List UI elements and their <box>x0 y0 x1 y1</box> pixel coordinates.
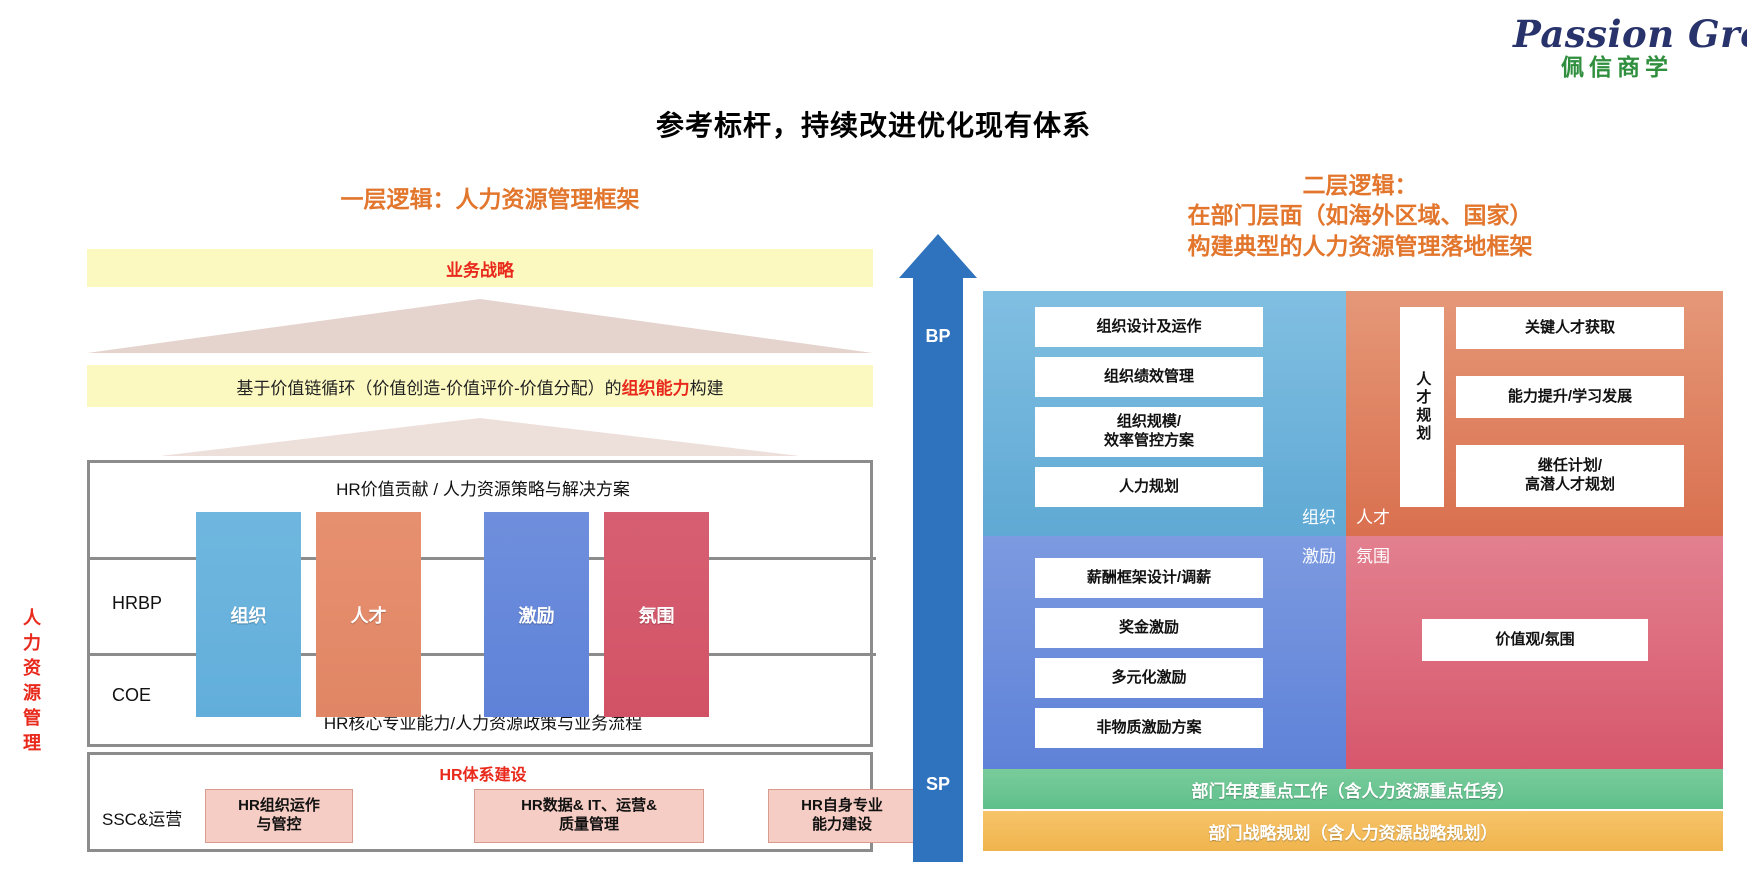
hr-pillar-talent: 人才 <box>316 512 421 717</box>
hr-pillar-climate: 氛围 <box>604 512 709 717</box>
bar-department-strategy: 部门战略规划（含人力资源战略规划） <box>983 811 1723 851</box>
quadrant-label-talent: 人才 <box>1356 503 1390 528</box>
card-bonus-incentive: 奖金激励 <box>1035 608 1263 648</box>
card-succession-hipo: 继任计划/高潜人才规划 <box>1456 445 1684 507</box>
ssc-card-data-it-quality: HR数据& IT、运营&质量管理 <box>474 789 704 843</box>
bar-annual-key-work: 部门年度重点工作（含人力资源重点任务） <box>983 769 1723 809</box>
vertical-hrm-label: 人力资源管理 <box>14 608 44 758</box>
card-comp-framework-adjust: 薪酬框架设计/调薪 <box>1035 558 1263 598</box>
ssc-card-org-operation: HR组织运作与管控 <box>205 789 353 843</box>
hr-system-build-title: HR体系建设 <box>90 761 876 785</box>
hr-row-label-hrbp: HRBP <box>112 593 162 614</box>
card-org-scale-efficiency: 组织规模/效率管控方案 <box>1035 407 1263 457</box>
hr-pillar-organization: 组织 <box>196 512 301 717</box>
logo-chinese-text: 佩信商学 <box>1513 56 1721 79</box>
quadrant-talent: 人才规划 关键人才获取 能力提升/学习发展 继任计划/高潜人才规划 人才 <box>1346 291 1723 536</box>
chevron-divider-upper <box>87 299 873 353</box>
card-talent-planning-side: 人才规划 <box>1400 307 1444 507</box>
arrow-label-bp: BP <box>899 326 977 347</box>
chevron-divider-lower <box>160 418 800 456</box>
hr-value-contribution-label: HR价值贡献 / 人力资源策略与解决方案 <box>90 475 876 500</box>
quadrant-label-organization: 组织 <box>1302 503 1336 528</box>
arrow-label-sp: SP <box>899 774 977 795</box>
card-capability-learning: 能力提升/学习发展 <box>1456 376 1684 418</box>
quadrant-organization: 组织设计及运作 组织绩效管理 组织规模/效率管控方案 人力规划 组织 <box>983 291 1346 536</box>
hr-framework-box: HR价值贡献 / 人力资源策略与解决方案 HRBP COE 组织 人才 激励 氛… <box>87 460 873 747</box>
department-framework-panel: 组织设计及运作 组织绩效管理 组织规模/效率管控方案 人力规划 组织 人才规划 … <box>983 291 1723 852</box>
company-logo: Passion Group 佩信商学 <box>1513 16 1721 94</box>
card-org-design-operation: 组织设计及运作 <box>1035 307 1263 347</box>
quadrant-label-climate: 氛围 <box>1356 542 1390 567</box>
hr-row-label-coe: COE <box>112 685 151 706</box>
hr-pillar-incentive: 激励 <box>484 512 589 717</box>
left-section-heading: 一层逻辑：人力资源管理框架 <box>180 180 800 214</box>
value-chain-bar: 基于价值链循环（价值创造-价值评价-价值分配）的组织能力构建 <box>87 365 873 407</box>
card-key-talent-acquisition: 关键人才获取 <box>1456 307 1684 349</box>
card-workforce-planning: 人力规划 <box>1035 467 1263 507</box>
slide-canvas: Passion Group 佩信商学 参考标杆，持续改进优化现有体系 一层逻辑：… <box>0 0 1747 895</box>
right-heading-line-3: 构建典型的人力资源管理落地框架 <box>1020 231 1700 261</box>
value-chain-highlight: 组织能力 <box>622 374 690 399</box>
page-title: 参考标杆，持续改进优化现有体系 <box>0 104 1747 144</box>
quadrant-incentive: 薪酬框架设计/调薪 奖金激励 多元化激励 非物质激励方案 激励 <box>983 536 1346 769</box>
right-heading-line-2: 在部门层面（如海外区域、国家） <box>1020 200 1700 230</box>
quadrant-label-incentive: 激励 <box>1302 542 1336 567</box>
value-chain-prefix: 基于价值链循环（价值创造-价值评价-价值分配）的 <box>236 374 621 399</box>
quadrant-climate: 价值观/氛围 氛围 <box>1346 536 1723 769</box>
value-chain-suffix: 构建 <box>690 374 724 399</box>
right-heading-line-1: 二层逻辑： <box>1020 170 1700 200</box>
ssc-row-label: SSC&运营 <box>102 805 182 830</box>
logo-script-text: Passion Group <box>1513 16 1721 53</box>
talent-planning-label: 人才规划 <box>1413 371 1432 443</box>
card-values-climate: 价值观/氛围 <box>1422 619 1648 661</box>
right-section-heading: 二层逻辑： 在部门层面（如海外区域、国家） 构建典型的人力资源管理落地框架 <box>1020 170 1700 261</box>
ssc-card-hr-capability: HR自身专业能力建设 <box>768 789 916 843</box>
bp-sp-arrow: BP SP <box>899 234 977 862</box>
ssc-operations-box: HR体系建设 SSC&运营 HR组织运作与管控 HR数据& IT、运营&质量管理… <box>87 752 873 852</box>
business-strategy-bar: 业务战略 <box>87 249 873 287</box>
card-nonmaterial-incentive: 非物质激励方案 <box>1035 708 1263 748</box>
card-org-performance-mgmt: 组织绩效管理 <box>1035 357 1263 397</box>
arrow-up-icon <box>899 234 977 278</box>
business-strategy-label: 业务战略 <box>446 256 514 281</box>
card-diversified-incentive: 多元化激励 <box>1035 658 1263 698</box>
